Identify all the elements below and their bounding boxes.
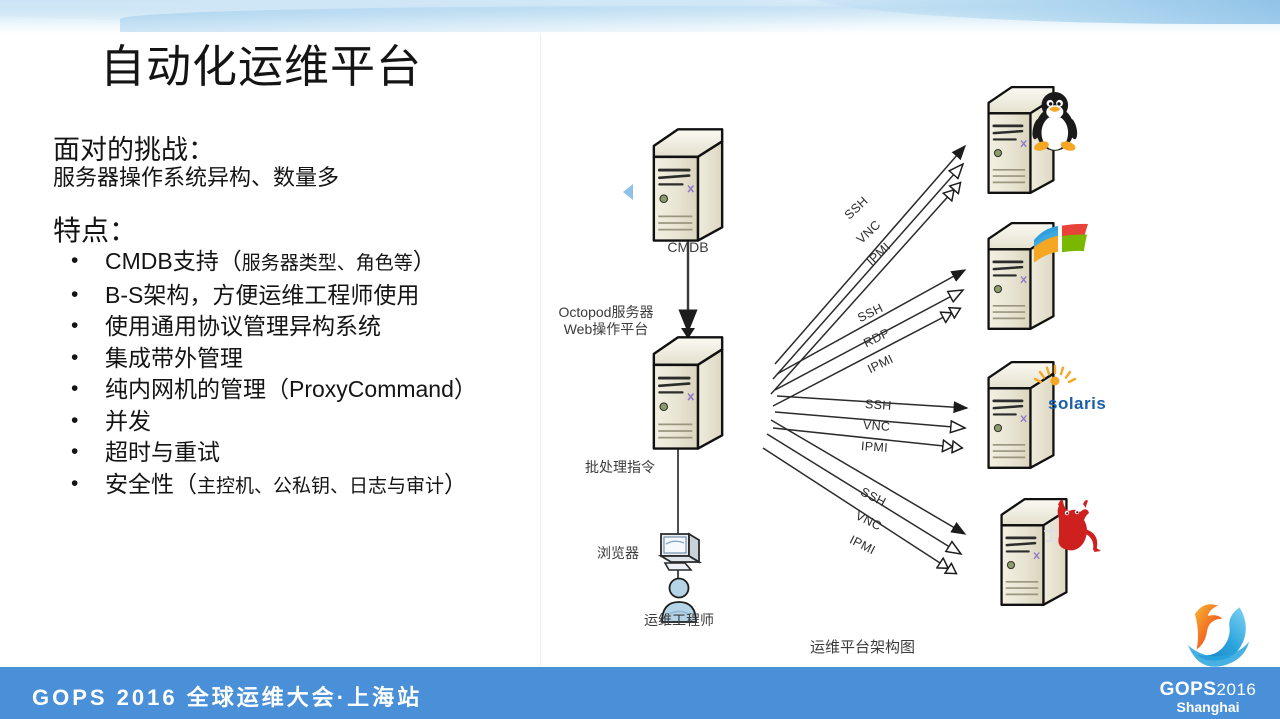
gops-footer-mark: GOPS2016 Shanghai <box>1150 680 1266 715</box>
browser-monitor-icon <box>661 534 699 570</box>
feature-subtext: 主控机、公私钥、日志与审计 <box>197 476 444 497</box>
list-item: 超时与重试 <box>53 437 523 469</box>
gops-word: GOPS <box>1160 679 1217 700</box>
features-heading: 特点： <box>53 209 137 249</box>
solaris-wordmark: solaris <box>1048 394 1106 414</box>
top-decorative-banner <box>0 0 1280 34</box>
feature-text: B-S架构，方便运维工程师使用 <box>105 282 419 308</box>
server-octopod <box>654 337 722 448</box>
list-item: B-S架构，方便运维工程师使用 <box>53 280 523 312</box>
gops-swirl-logo <box>1176 585 1262 671</box>
server-freebsd <box>1002 499 1067 605</box>
label-browser: 浏览器 <box>597 545 639 562</box>
gops-year: 2016 <box>1217 680 1257 699</box>
architecture-diagram: CMDB Octopod服务器 Web操作平台 批处理指令 浏览器 运维工程师 … <box>545 34 1280 666</box>
feature-tail: ） <box>413 248 436 274</box>
feature-text: CMDB支持（ <box>105 248 242 274</box>
gops-mark-line2: Shanghai <box>1150 700 1266 715</box>
label-cmdb: CMDB <box>657 239 719 256</box>
feature-subtext: 服务器类型、角色等 <box>242 253 413 274</box>
footer-title: GOPS 2016 全球运维大会·上海站 <box>32 680 422 712</box>
list-item: 集成带外管理 <box>53 343 523 375</box>
feature-tail: ） <box>444 471 467 497</box>
gops-mark-line1: GOPS2016 <box>1150 680 1266 700</box>
list-item: CMDB支持（服务器类型、角色等） <box>53 246 523 280</box>
diagram-caption: 运维平台架构图 <box>810 636 915 657</box>
label-octopod-line1: Octopod服务器 <box>551 304 661 321</box>
challenge-body: 服务器操作系统异构、数量多 <box>53 160 339 192</box>
feature-text: 并发 <box>105 408 151 434</box>
server-cmdb <box>654 129 722 240</box>
footer-bar: GOPS 2016 全球运维大会·上海站 GOPS2016 Shanghai <box>0 667 1280 719</box>
protocol-label-solaris-1: SSH <box>865 397 893 413</box>
feature-text: 超时与重试 <box>105 439 220 465</box>
protocol-label-solaris-2: VNC <box>863 418 891 434</box>
label-batch-command: 批处理指令 <box>585 459 655 476</box>
list-item: 并发 <box>53 406 523 438</box>
feature-text: 集成带外管理 <box>105 345 243 371</box>
list-item: 使用通用协议管理异构系统 <box>53 311 523 343</box>
column-divider <box>540 34 541 666</box>
protocol-label-solaris-3: IPMI <box>861 439 889 455</box>
label-engineer: 运维工程师 <box>633 612 725 629</box>
feature-text: 纯内网机的管理（ProxyCommand） <box>105 376 477 402</box>
features-list: CMDB支持（服务器类型、角色等） B-S架构，方便运维工程师使用 使用通用协议… <box>53 246 523 502</box>
diagram-canvas <box>545 34 1280 666</box>
page-title: 自动化运维平台 <box>100 30 422 95</box>
feature-text: 使用通用协议管理异构系统 <box>105 313 381 339</box>
cmdb-pointer-icon <box>623 184 633 200</box>
slide-root: 自动化运维平台 面对的挑战： 服务器操作系统异构、数量多 特点： CMDB支持（… <box>0 0 1280 719</box>
label-octopod-line2: Web操作平台 <box>551 321 661 338</box>
feature-text: 安全性（ <box>105 471 197 497</box>
list-item: 纯内网机的管理（ProxyCommand） <box>53 374 523 406</box>
list-item: 安全性（主控机、公私钥、日志与审计） <box>53 469 523 503</box>
